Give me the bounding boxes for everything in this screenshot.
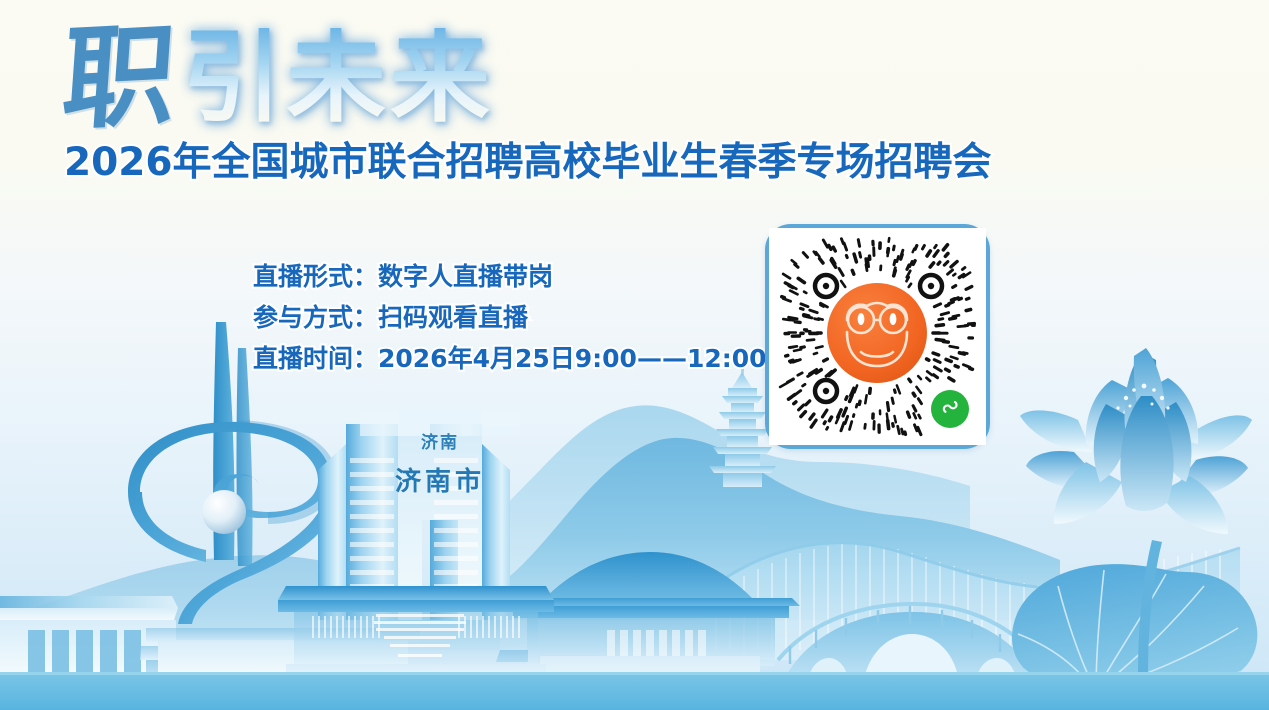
poster-canvas: 济南 济南市 <box>0 0 1269 710</box>
headline-block: 职 引未来 2026年全国城市联合招聘高校毕业生春季专场招聘会 <box>0 0 1269 210</box>
page-title: 2026年全国城市联合招聘高校毕业生春季专场招聘会 <box>64 141 992 186</box>
info-line-participation: 参与方式：扫码观看直播 <box>253 297 767 338</box>
ground-band <box>0 672 1269 710</box>
info-line-time: 直播时间：2026年4月25日9:00——12:00 <box>253 338 767 379</box>
qr-code-card[interactable] <box>765 224 990 449</box>
wechat-miniprogram-icon <box>931 390 969 428</box>
info-line-format: 直播形式：数字人直播带岗 <box>253 256 767 297</box>
event-info-block: 直播形式：数字人直播带岗 参与方式：扫码观看直播 直播时间：2026年4月25日… <box>253 256 767 379</box>
frog-face-icon <box>827 283 927 383</box>
tower-label-small: 济南 <box>421 432 459 453</box>
tower-label-large: 济南市 <box>395 466 485 497</box>
slogan-brush-char: 职 <box>59 19 179 137</box>
slogan-gradient-text: 引未来 <box>182 28 494 128</box>
